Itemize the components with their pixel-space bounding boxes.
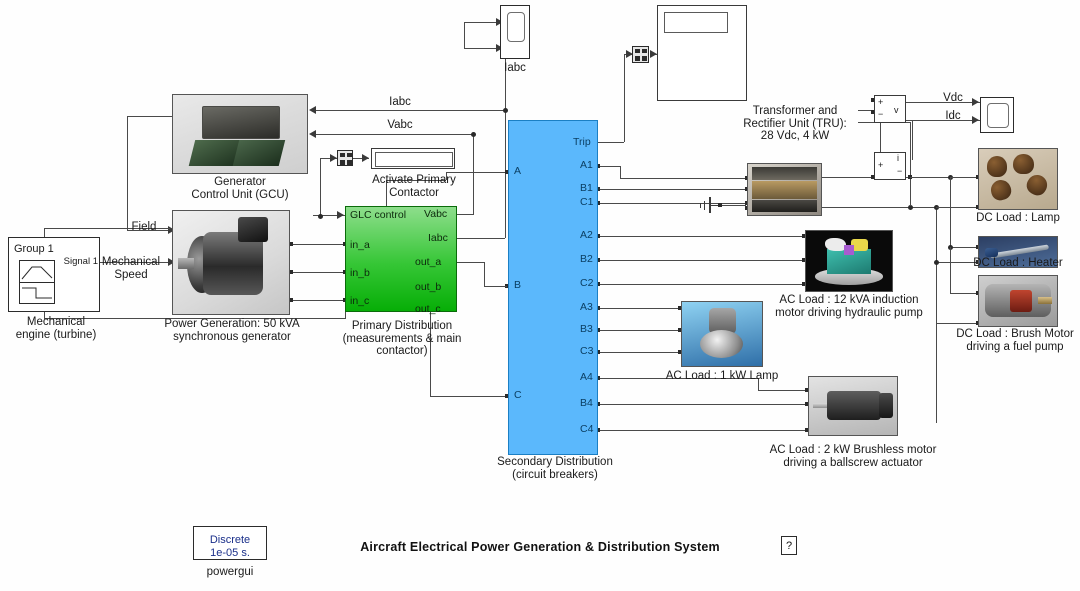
arrow-display-in [362,154,369,162]
powergui-line2: 1e-05 s. [194,547,266,560]
ground-icon [698,197,720,213]
pin-trip: Trip [573,136,591,148]
wire-a1-v [620,166,621,178]
wire-b3 [598,330,680,331]
iabc-scope-caption: Iabc [490,62,540,75]
mechanical-speed-label: Mechanical Speed [96,256,166,281]
wire-heater-p-v [950,177,951,247]
pin-in-c: in_c [350,295,369,307]
activate-primary-contactor-caption: Activate Primary Contactor [358,174,470,199]
pin-vabc: Vabc [424,208,447,220]
wire-idc-v [912,120,913,160]
pin-iabc: Iabc [428,232,448,244]
node-vabc [471,132,476,137]
wire-a1-h2 [620,178,747,179]
activate-primary-contactor-display[interactable] [371,148,455,169]
ac-load-brushless-block[interactable] [808,376,898,436]
wire-a4-h2 [758,390,807,391]
powergui-block[interactable]: Discrete 1e-05 s. [193,526,267,560]
dc-load-heater-caption: DC Load : Heater [956,257,1080,270]
pin-out-b: out_b [415,281,441,293]
imeas-symbol: i [897,153,899,163]
help-button[interactable]: ? [781,536,797,555]
port-gnd [718,203,722,207]
wire-seca-h [446,172,506,173]
pin-sec-c: C [514,389,522,401]
primary-distribution-caption: Primary Distribution (measurements & mai… [332,320,472,358]
wire-secb-v [484,262,485,286]
wire-gcu-field-v [127,116,128,230]
secondary-distribution-caption: Secondary Distribution (circuit breakers… [486,456,624,481]
vdc-label: Vdc [930,92,976,105]
pin-in-b: in_b [350,267,370,279]
wire-brush-p [950,293,978,294]
wire-c3 [598,352,680,353]
wire-imeas-out [910,177,950,178]
pin-a2: A2 [580,229,593,241]
wire-gen-a [291,244,347,245]
wire-vabc-gcu [315,134,473,135]
node-heater-n [934,260,939,265]
pin-out-c: out_c [415,303,441,315]
powergui-line1: Discrete [194,534,266,547]
power-generation-caption: Power Generation: 50 kVA synchronous gen… [152,318,312,343]
wire-c2 [598,284,804,285]
wire-gnd [720,205,746,206]
wire-lamp-n [936,207,978,208]
wire-imeas-in [858,177,872,178]
dc-load-lamp-block[interactable] [978,148,1058,210]
node-iabc [503,108,508,113]
arrow-mux-contactor [330,154,337,162]
dc-scope[interactable] [980,97,1014,133]
current-measurement-block[interactable]: + − i [874,152,906,180]
ac-load-induction-caption: AC Load : 12 kVA induction motor driving… [774,294,924,319]
wire-brush-p-v [950,247,951,293]
wire-iabc-v2 [505,110,506,238]
pin-b1: B1 [580,182,593,194]
wire-vmeas-n [910,122,911,206]
iabc-signal-label: Iabc [355,96,445,109]
wire-a1 [598,166,620,167]
power-generation-block[interactable] [172,210,290,315]
wire-heater-p [950,247,978,248]
pin-a4: A4 [580,371,593,383]
gcu-block[interactable] [172,94,308,174]
wire-iabc-gcu [315,110,475,111]
wire-a3 [598,308,680,309]
voltage-measurement-block[interactable]: + − v [874,95,906,123]
mux-trip[interactable] [632,46,649,63]
pin-c2: C2 [580,277,593,289]
mux-contactor[interactable] [337,150,353,166]
wire-mux-feed [320,158,321,216]
pin-sec-b: B [514,279,521,291]
wire-gcu-field-h [127,116,172,117]
pin-b2: B2 [580,253,593,265]
step-signal-icon [21,285,53,301]
pin-c1: C1 [580,196,593,208]
dc-load-lamp-caption: DC Load : Lamp [960,212,1076,225]
field-label: Field [124,221,164,234]
wire-lamp-p [950,177,978,178]
pin-b3: B3 [580,323,593,335]
wire-tru-dcn [822,207,950,208]
node-mux-feed [318,214,323,219]
ac-load-lamp-caption: AC Load : 1 kW Lamp [652,370,792,383]
dc-load-brush-motor-block[interactable] [978,275,1058,327]
wire-b4 [598,404,807,405]
ac-load-induction-block[interactable] [805,230,893,292]
tru-caption: Transformer and Rectifier Unit (TRU): 28… [720,105,870,143]
wire-c1 [598,203,747,204]
wire-vabc-v [473,134,474,214]
arrow-vabc-gcu [309,130,316,138]
pin-a1: A1 [580,159,593,171]
wire-bus-n-v [936,207,937,423]
arrow-disp-in [650,50,657,58]
imeas-minus: − [897,166,902,176]
pin-c3: C3 [580,345,593,357]
wire-b1 [598,189,747,190]
tru-block[interactable] [747,163,822,216]
imeas-plus: + [878,160,883,170]
wire-scope-in1-v [464,22,465,48]
wire-trip-h [596,142,624,143]
wire-gen-c [291,300,347,301]
pin-a3: A3 [580,301,593,313]
wire-a2 [598,236,804,237]
pin-in-a: in_a [350,239,370,251]
powergui-caption: powergui [190,566,270,579]
vmeas-symbol: v [894,105,899,115]
group-label: Group 1 [14,243,84,256]
arrow-glc [337,211,344,219]
trip-display[interactable] [657,5,747,101]
wire-trip-v [624,54,625,142]
pin-out-a: out_a [415,256,441,268]
pin-sec-a: A [514,165,521,177]
ac-load-lamp-block[interactable] [681,301,763,367]
wire-b2 [598,260,804,261]
idc-label: Idc [930,110,976,123]
wire-c4 [598,430,807,431]
wire-iabc-gcu2 [475,110,505,111]
gcu-caption: Generator Control Unit (GCU) [160,176,320,201]
pin-glc-control: GLC control [350,209,406,221]
mechanical-engine-caption: Mechanical engine (turbine) [0,316,112,341]
dc-load-brush-motor-caption: DC Load : Brush Motor driving a fuel pum… [950,328,1080,353]
iabc-scope[interactable] [500,5,530,59]
ac-load-brushless-caption: AC Load : 2 kW Brushless motor driving a… [768,444,938,469]
vmeas-plus: + [878,97,883,107]
arrow-iabc-gcu [309,106,316,114]
vmeas-minus: − [878,109,883,119]
wire-secb [484,286,507,287]
wire-secc-h [430,396,507,397]
signal1-label: Signal 1 [44,256,98,269]
pin-c4: C4 [580,423,593,435]
simulink-canvas: Group 1 Signal 1 Mechanical engine (turb… [0,0,1080,591]
wire-gen-b [291,272,347,273]
vabc-signal-label: Vabc [355,119,445,132]
wire-brush-n [936,323,978,324]
page-title: Aircraft Electrical Power Generation & D… [330,540,750,554]
pin-b4: B4 [580,397,593,409]
